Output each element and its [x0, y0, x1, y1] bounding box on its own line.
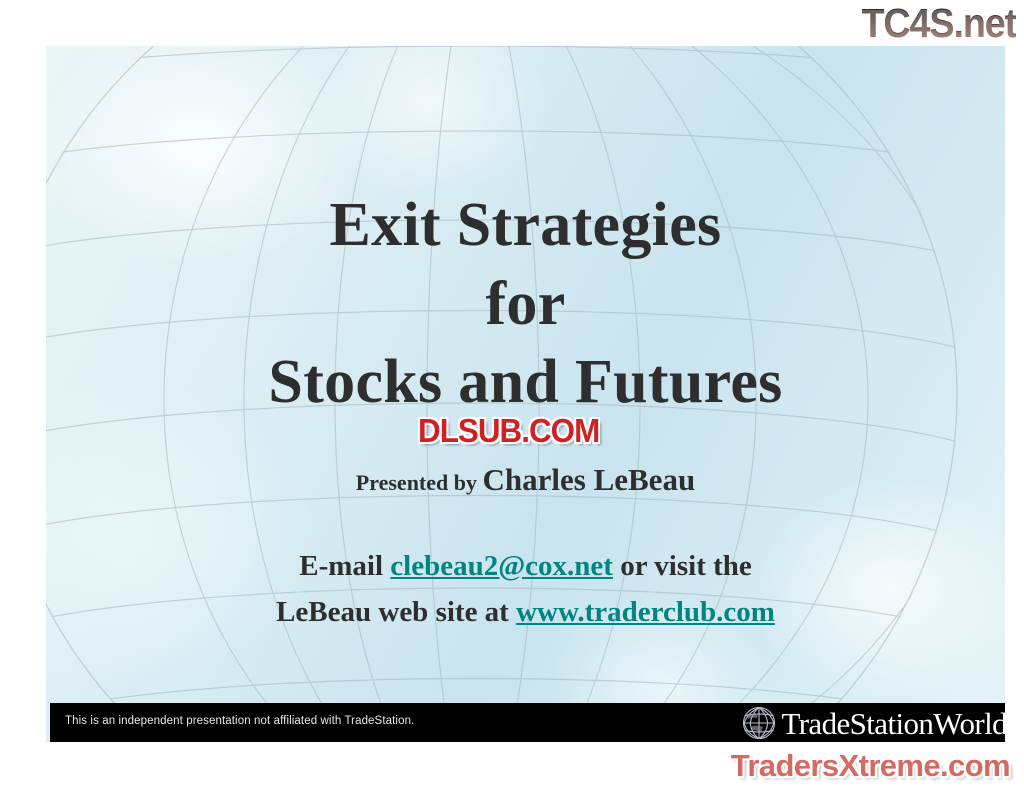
- website-prefix-label: LeBeau web site at: [276, 596, 516, 628]
- presentation-slide: Exit Strategies for Stocks and Futures P…: [46, 46, 1005, 742]
- footer-bar: This is an independent presentation not …: [50, 703, 1005, 742]
- slide-title-line-2: for: [46, 273, 1005, 335]
- watermark-dlsub: DLSUB.COM: [418, 412, 599, 450]
- disclaimer-text: This is an independent presentation not …: [65, 715, 414, 727]
- email-link[interactable]: clebeau2@cox.net: [390, 550, 613, 582]
- slide-title-line-3: Stocks and Futures: [46, 351, 1005, 413]
- contact-email-line: E-mail clebeau2@cox.net or visit the: [46, 550, 1005, 583]
- globe-wireframe-icon: [739, 705, 779, 741]
- website-link[interactable]: www.traderclub.com: [516, 596, 775, 628]
- email-suffix-label: or visit the: [613, 550, 752, 582]
- watermark-tc4s: TC4S.net: [861, 0, 1016, 47]
- presenter-prefix: Presented by: [356, 470, 483, 495]
- tradestationworld-logo: TradeStationWorld: [739, 704, 1005, 742]
- email-prefix-label: E-mail: [299, 550, 390, 582]
- slide-title-line-1: Exit Strategies: [46, 194, 1005, 256]
- contact-website-line: LeBeau web site at www.traderclub.com: [46, 596, 1005, 629]
- watermark-tradersxtreme: TradersXtreme.com: [731, 748, 1010, 784]
- slide-content: Exit Strategies for Stocks and Futures P…: [46, 46, 1005, 742]
- tradestationworld-wordmark: TradeStationWorld: [781, 708, 1005, 739]
- presenter-line: Presented by Charles LeBeau: [46, 462, 1005, 498]
- presenter-name: Charles LeBeau: [483, 462, 696, 497]
